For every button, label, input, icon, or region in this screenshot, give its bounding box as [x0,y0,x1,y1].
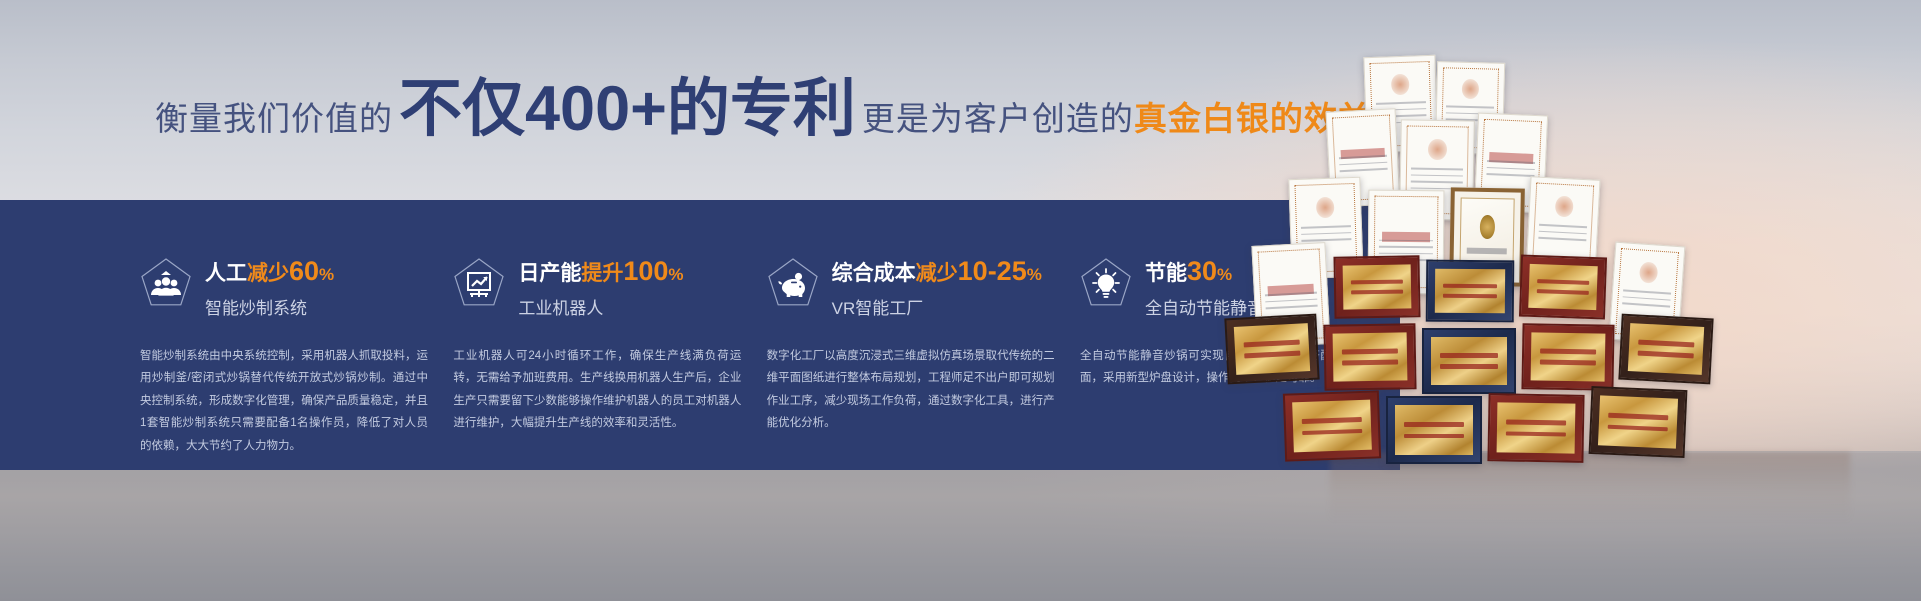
feature-title-unit: % [319,265,334,284]
feature-title: 人工减少60% [205,256,334,287]
feature-title-label: 节能 [1145,262,1187,285]
feature-description: 数字化工厂以高度沉浸式三维虚拟仿真场景取代传统的二维平面图纸进行整体布局规划，工… [767,345,1055,435]
promo-banner: 衡量我们价值的 不仅400+的专利 更是为客户创造的 真金白银的效益 [0,0,1921,601]
award-plaque-face [1431,337,1507,385]
certificate-seal [1428,138,1447,160]
award-plaque-face [1234,323,1310,375]
feature-item-daily-capacity[interactable]: 日产能提升100% 工业机器人 工业机器人可24小时循环工作，确保生产线满负荷运… [453,255,766,455]
award-plaque-face [1435,269,1505,314]
headline-lead: 衡量我们价值的 [155,92,393,140]
award-plaque-face [1528,264,1597,310]
feature-title-number: 60 [289,256,319,286]
award-plaque-item [1521,323,1614,391]
feature-header: 人工减少60% 智能炒制系统 [140,255,431,319]
feature-text-group: 日产能提升100% 工业机器人 [518,255,683,319]
chart-board-icon [453,257,505,307]
award-plaque-item [1333,255,1420,318]
feature-title: 日产能提升100% [518,256,683,287]
feature-item-labor-reduction[interactable]: 人工减少60% 智能炒制系统 智能炒制系统由中央系统控制，采用机器人抓取投料，运… [140,255,453,455]
award-plaque-item [1224,314,1319,385]
feature-title-number: 30 [1187,256,1217,286]
award-plaque-face [1292,400,1372,453]
feature-title-unit: % [668,265,683,284]
certificate-lines [1538,224,1588,246]
feature-text-group: 综合成本减少10-25% VR智能工厂 [832,255,1042,319]
feature-title-highlight: 提升 [581,262,623,285]
award-plaque-face [1531,332,1606,381]
headline-middle: 更是为客户创造的 [862,92,1134,140]
certificate-seal [1316,196,1335,218]
feature-title: 综合成本减少10-25% [832,256,1042,287]
piggy-bank-icon [767,257,819,307]
team-people-icon [140,257,192,307]
feature-subtitle: 工业机器人 [518,294,683,319]
feature-header: 综合成本减少10-25% VR智能工厂 [767,255,1058,319]
award-title-block [1467,247,1507,254]
award-plaque-item [1519,255,1607,320]
feature-description: 工业机器人可24小时循环工作，确保生产线满负荷运转，无需给予加班费用。生产线换用… [453,345,741,435]
features-list: 人工减少60% 智能炒制系统 智能炒制系统由中央系统控制，采用机器人抓取投料，运… [140,255,1380,455]
feature-subtitle: VR智能工厂 [832,294,1042,319]
page-title: 衡量我们价值的 不仅400+的专利 更是为客户创造的 真金白银的效益 [155,78,1372,141]
award-medal-icon [1480,215,1495,239]
award-plaque-face [1395,405,1473,455]
award-plaque-face [1333,332,1408,381]
award-plaque-item [1487,393,1584,463]
feature-item-total-cost[interactable]: 综合成本减少10-25% VR智能工厂 数字化工厂以高度沉浸式三维虚拟仿真场景取… [767,255,1080,455]
feature-text-group: 人工减少60% 智能炒制系统 [205,255,334,319]
feature-title-unit: % [1027,265,1042,284]
award-plaque-face [1497,402,1576,453]
lightbulb-icon [1080,257,1132,307]
feature-title-label: 日产能 [518,262,581,285]
certificate-lines [1621,289,1671,312]
award-plaque-item [1386,396,1482,464]
award-plaque-item [1618,314,1713,385]
award-plaque-item [1283,390,1381,461]
award-plaque-face [1343,264,1412,309]
award-plaque-face [1598,395,1678,448]
feature-title-number: 100 [623,256,668,286]
headline-emphasis: 不仅400+的专利 [399,78,856,141]
feature-title-label: 人工 [205,262,247,285]
feature-title-highlight: 减少 [247,262,289,285]
feature-description: 智能炒制系统由中央系统控制，采用机器人抓取投料，运用炒制釜/密闭式炒锅替代传统开… [140,345,428,457]
feature-title-unit: % [1217,265,1232,284]
feature-title-label: 综合成本 [832,262,916,285]
feature-title-highlight: 减少 [916,262,958,285]
award-plaque-item [1422,328,1516,394]
feature-title-number: 10-25 [958,256,1027,286]
feature-header: 日产能提升100% 工业机器人 [453,255,744,319]
feature-subtitle: 智能炒制系统 [205,294,334,319]
certificate-and-award-pyramid [1250,48,1910,478]
certificate-lines [1265,292,1318,314]
certificate-lines [1338,155,1388,177]
award-plaque-item [1426,260,1515,323]
certificate-lines [1486,160,1536,182]
award-plaque-face [1628,323,1704,375]
award-plaque-item [1589,386,1688,458]
award-plaque-item [1323,323,1416,391]
